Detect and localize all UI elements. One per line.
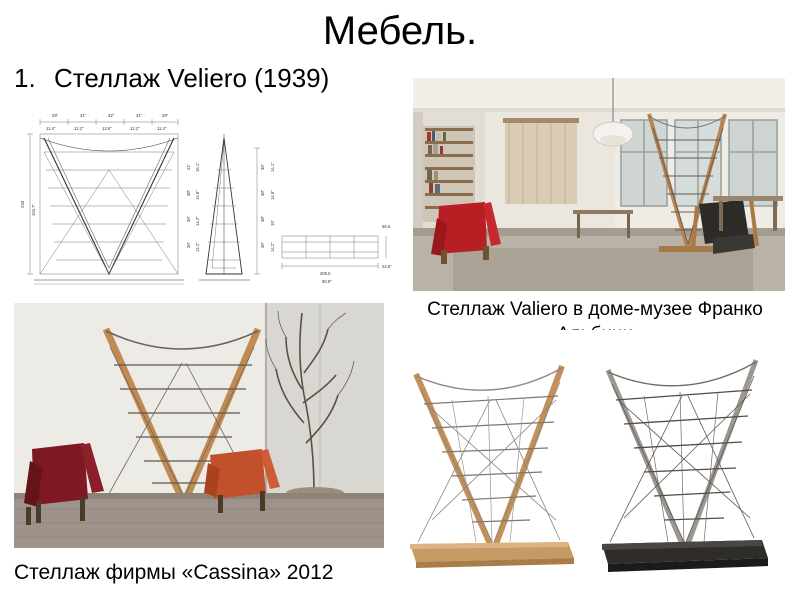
- svg-text:104.7": 104.7": [31, 204, 36, 216]
- svg-text:14.2": 14.2": [195, 216, 200, 226]
- svg-text:11.4": 11.4": [157, 126, 167, 131]
- svg-text:31": 31": [80, 113, 87, 118]
- svg-text:31": 31": [136, 113, 143, 118]
- cassina-photo-art: [14, 303, 384, 548]
- technical-drawing-svg: 29"31"32" 31"29" 11.4"12.2"12.6" 12.2"11…: [14, 108, 394, 293]
- page-title: Мебель.: [0, 8, 800, 54]
- museum-photo-art: [413, 78, 785, 291]
- svg-text:12.2": 12.2": [130, 126, 140, 131]
- svg-text:14.9": 14.9": [270, 190, 275, 200]
- svg-text:32": 32": [108, 113, 115, 118]
- products-photo-art: [392, 330, 782, 588]
- svg-text:14.2": 14.2": [195, 242, 200, 252]
- svg-text:12.6": 12.6": [102, 126, 112, 131]
- svg-text:56.6: 56.6: [382, 224, 391, 229]
- svg-text:205.5: 205.5: [320, 271, 331, 276]
- veliero-two-versions-product-shot: [392, 330, 782, 588]
- svg-text:36": 36": [260, 241, 265, 248]
- svg-text:248: 248: [20, 200, 25, 208]
- slide: Мебель. 1. Стеллаж Veliero (1939): [0, 0, 800, 600]
- veliero-technical-drawing: 29"31"32" 31"29" 11.4"12.2"12.6" 12.2"11…: [14, 108, 394, 293]
- svg-text:38": 38": [260, 189, 265, 196]
- bullet-number: 1.: [14, 62, 40, 94]
- svg-text:29": 29": [52, 113, 59, 118]
- caption-cassina: Стеллаж фирмы «Cassina» 2012: [14, 560, 384, 586]
- svg-text:80.9": 80.9": [322, 279, 332, 284]
- svg-text:38": 38": [260, 215, 265, 222]
- svg-text:22.6": 22.6": [382, 264, 392, 269]
- svg-text:38": 38": [186, 189, 191, 196]
- svg-text:36": 36": [186, 241, 191, 248]
- svg-text:41": 41": [186, 163, 191, 170]
- svg-text:12.2": 12.2": [74, 126, 84, 131]
- svg-text:29": 29": [162, 113, 169, 118]
- cassina-showroom-veliero: [14, 303, 384, 548]
- svg-text:36": 36": [260, 163, 265, 170]
- albini-house-museum-interior: [413, 78, 785, 291]
- svg-text:14.9": 14.9": [195, 190, 200, 200]
- svg-text:11.4": 11.4": [46, 126, 56, 131]
- svg-text:15": 15": [270, 219, 275, 226]
- svg-text:16.1": 16.1": [195, 162, 200, 172]
- svg-text:14.2": 14.2": [270, 242, 275, 252]
- svg-text:14.1": 14.1": [270, 162, 275, 172]
- svg-text:36": 36": [186, 215, 191, 222]
